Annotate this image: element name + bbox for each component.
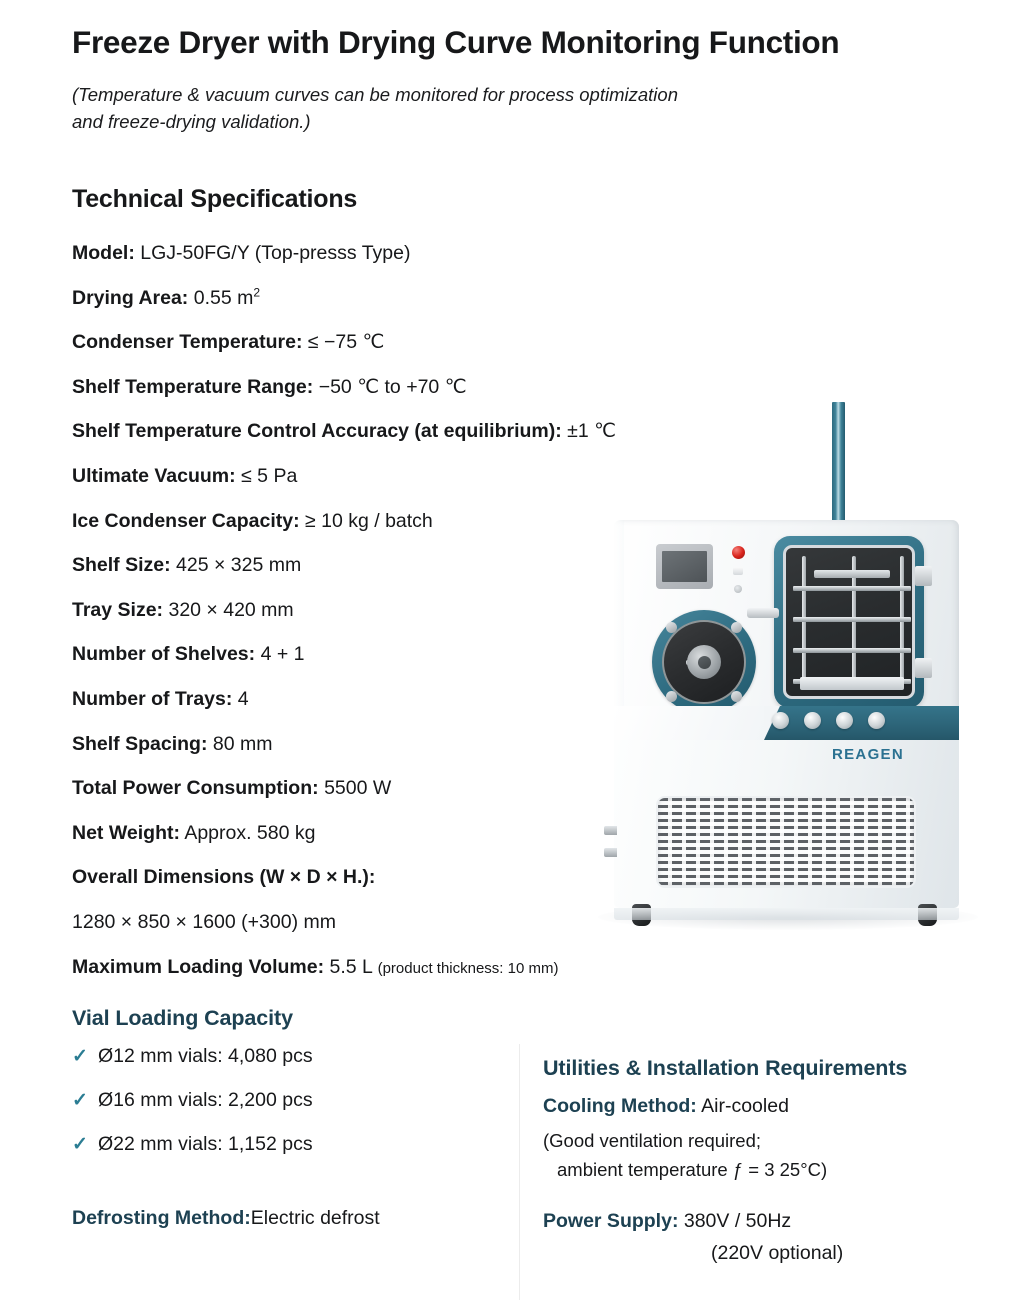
spec-value: LGJ-50FG/Y (Top-presss Type): [140, 242, 410, 264]
utilities-installation-section: Utilities & Installation Requirements Co…: [543, 1056, 983, 1265]
power-switch-icon: [733, 567, 743, 575]
check-icon: ✓: [72, 1135, 98, 1154]
port-lug: [666, 691, 677, 702]
check-icon: ✓: [72, 1091, 98, 1110]
spec-label: Ultimate Vacuum:: [72, 465, 236, 487]
door-handle: [747, 608, 779, 618]
hmi-display: [662, 551, 707, 582]
port-lug: [731, 691, 742, 702]
chamber-shelf: [793, 586, 911, 591]
machine-base: [614, 908, 959, 920]
spec-value: 4: [238, 688, 249, 710]
spec-label: Maximum Loading Volume:: [72, 956, 324, 978]
subtitle-line-1: (Temperature & vacuum curves can be moni…: [72, 82, 872, 109]
port-lug: [731, 622, 742, 633]
defrosting-method-label: Defrosting Method:: [72, 1207, 251, 1229]
list-item: ✓ Ø12 mm vials: 4,080 pcs: [72, 1045, 492, 1089]
shelf-support-rod: [900, 556, 904, 688]
spec-row-drying-area: Drying Area: 0.55 m2: [72, 285, 772, 330]
spec-label: Net Weight:: [72, 822, 180, 844]
side-fitting: [604, 848, 617, 857]
defrosting-method-value: Electric defrost: [251, 1207, 380, 1229]
control-panel-screen: [656, 544, 713, 589]
power-supply-value: 380V / 50Hz: [684, 1210, 791, 1232]
vial-loading-capacity-heading: Vial Loading Capacity: [72, 1006, 492, 1031]
spec-row-condenser-temperature: Condenser Temperature: ≤ −75 ℃: [72, 329, 772, 374]
column-divider: [519, 1044, 520, 1300]
chamber-shelf: [793, 617, 911, 622]
spec-value: Approx. 580 kg: [184, 822, 315, 844]
spec-sheet-page: Freeze Dryer with Drying Curve Monitorin…: [0, 0, 1024, 1312]
vial-capacity-text: Ø22 mm vials: 1,152 pcs: [98, 1133, 313, 1156]
spec-value: 5.5 L: [330, 956, 373, 978]
vial-loading-capacity-section: Vial Loading Capacity ✓ Ø12 mm vials: 4,…: [72, 1006, 492, 1230]
spec-value-note: (product thickness: 10 mm): [378, 960, 559, 977]
utilities-heading: Utilities & Installation Requirements: [543, 1056, 983, 1081]
list-item: ✓ Ø22 mm vials: 1,152 pcs: [72, 1133, 492, 1177]
page-title: Freeze Dryer with Drying Curve Monitorin…: [72, 24, 952, 62]
control-knob: [772, 712, 789, 729]
cooling-method-row: Cooling Method: Air-cooled: [543, 1095, 983, 1118]
subtitle-line-2: and freeze-drying validation.): [72, 109, 872, 136]
spec-value-superscript: 2: [253, 285, 260, 299]
ventilation-note-line-1: (Good ventilation required;: [543, 1127, 983, 1156]
defrosting-method-row: Defrosting Method:Electric defrost: [72, 1207, 492, 1230]
ventilation-note-line-2: ambient temperature ƒ = 3 25°C): [543, 1156, 827, 1185]
spec-value: ≥ 10 kg / batch: [305, 510, 433, 532]
power-supply-block: Power Supply: 380V / 50Hz (220V optional…: [543, 1210, 983, 1265]
vial-capacity-text: Ø16 mm vials: 2,200 pcs: [98, 1089, 313, 1112]
spec-row-model: Model: LGJ-50FG/Y (Top-presss Type): [72, 240, 772, 285]
spec-value: 5500 W: [324, 777, 391, 799]
band-notch: [614, 706, 764, 740]
door-hinge: [915, 566, 932, 586]
spec-value: −50 ℃ to +70 ℃: [319, 376, 467, 398]
shelf-support-rod: [802, 556, 806, 688]
vial-capacity-text: Ø12 mm vials: 4,080 pcs: [98, 1045, 313, 1068]
spec-row-maximum-loading-volume: Maximum Loading Volume: 5.5 L (product t…: [72, 954, 772, 999]
spec-label: Total Power Consumption:: [72, 777, 319, 799]
spec-value: 425 × 325 mm: [176, 554, 301, 576]
product-image: REAGEN: [556, 396, 1016, 952]
port-lug: [666, 622, 677, 633]
chamber-window: [783, 545, 915, 699]
door-hinge: [915, 658, 932, 678]
technical-specifications-heading: Technical Specifications: [72, 185, 357, 214]
chamber-shelf: [793, 648, 911, 653]
spec-value: 320 × 420 mm: [168, 599, 293, 621]
emergency-stop-button-icon: [732, 546, 745, 559]
spec-label: Shelf Size:: [72, 554, 171, 576]
exhaust-pipe: [832, 402, 845, 524]
spec-label: Tray Size:: [72, 599, 163, 621]
spec-value: 0.55 m: [194, 287, 254, 309]
spec-label: Model:: [72, 242, 135, 264]
check-icon: ✓: [72, 1047, 98, 1066]
key-lock-icon: [734, 585, 742, 593]
spec-value: ≤ 5 Pa: [241, 465, 297, 487]
cooling-method-value: Air-cooled: [701, 1095, 789, 1117]
drying-chamber-door: [774, 536, 924, 708]
power-supply-label: Power Supply:: [543, 1210, 678, 1232]
page-subtitle: (Temperature & vacuum curves can be moni…: [72, 82, 872, 136]
control-knob: [868, 712, 885, 729]
list-item: ✓ Ø16 mm vials: 2,200 pcs: [72, 1089, 492, 1133]
control-knob: [804, 712, 821, 729]
cooling-method-label: Cooling Method:: [543, 1095, 697, 1117]
ventilation-note: (Good ventilation required; ambient temp…: [543, 1127, 983, 1184]
power-supply-row: Power Supply: 380V / 50Hz: [543, 1210, 983, 1233]
spec-label: Shelf Spacing:: [72, 733, 207, 755]
spec-label: Shelf Temperature Control Accuracy (at e…: [72, 420, 562, 442]
spec-label: Shelf Temperature Range:: [72, 376, 313, 398]
chamber-bottom-tray: [800, 677, 904, 690]
spec-label: Number of Shelves:: [72, 643, 255, 665]
spec-label: Ice Condenser Capacity:: [72, 510, 300, 532]
power-supply-optional: (220V optional): [543, 1242, 983, 1265]
spec-label: Number of Trays:: [72, 688, 232, 710]
spec-label: Drying Area:: [72, 287, 188, 309]
top-press-plate: [814, 570, 890, 578]
ventilation-grille: [656, 796, 916, 888]
condenser-port: [652, 610, 756, 714]
spec-value: 80 mm: [213, 733, 273, 755]
control-knob: [836, 712, 853, 729]
spec-value: 4 + 1: [261, 643, 305, 665]
spec-label: Condenser Temperature:: [72, 331, 302, 353]
side-fitting: [604, 826, 617, 835]
condenser-port-hub: [687, 645, 721, 679]
spec-value: ≤ −75 ℃: [308, 331, 385, 353]
spec-label: Overall Dimensions (W × D × H.):: [72, 866, 375, 888]
brand-label: REAGEN: [832, 746, 904, 763]
